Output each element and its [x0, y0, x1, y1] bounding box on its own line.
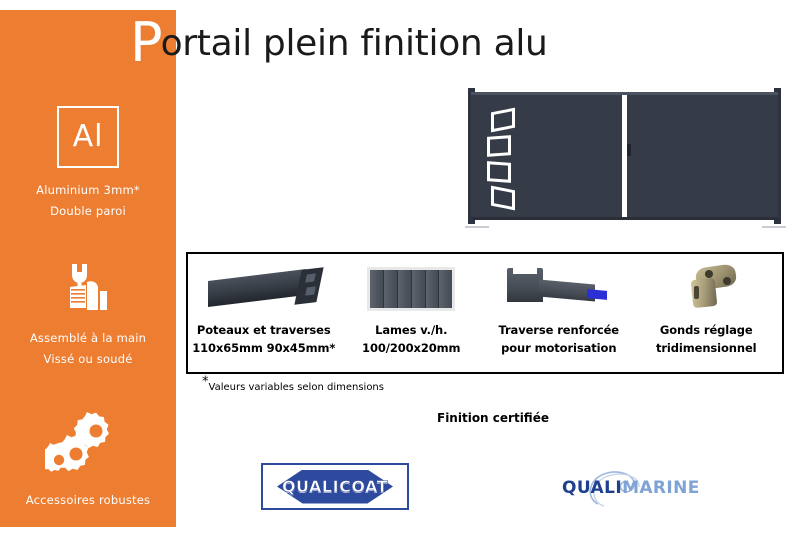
qualimarine-text-part1: QUALI: [562, 478, 622, 498]
aluminium-symbol-label: Al: [73, 122, 104, 152]
gate-cutout-4: [491, 186, 515, 211]
sidebar-block-assembly: Assemblé à la main Vissé ou soudé: [0, 256, 176, 371]
feature-sub-hinge: tridimensionnel: [656, 340, 757, 358]
gate-bottom-rail: [471, 217, 778, 220]
sidebar-caption-aluminium: Aluminium 3mm* Double paroi: [0, 180, 176, 223]
gate-cutout-3: [487, 161, 511, 183]
gate-leaf-right: [627, 92, 778, 220]
sidebar-caption-assembly-line1: Assemblé à la main: [0, 328, 176, 349]
feature-label-hinge: Gonds réglage: [660, 322, 753, 340]
qualimarine-logo: QUALIMARINE: [556, 466, 716, 510]
qualimarine-text-part2: MARINE: [622, 478, 700, 498]
feature-item-posts: Poteaux et traverses 110x65mm 90x45mm*: [190, 260, 338, 372]
feature-sub-motorised-crossbar: pour motorisation: [501, 340, 616, 358]
gate-center-gap: [622, 92, 627, 220]
feature-sub-slats: 100/200x20mm: [362, 340, 460, 358]
gate-ground-left: [465, 226, 489, 228]
qualicoat-logo: QUALICOAT: [261, 463, 409, 510]
features-panel: Poteaux et traverses 110x65mm 90x45mm* L…: [186, 252, 784, 374]
feature-item-hinge: Gonds réglage tridimensionnel: [633, 260, 781, 372]
gate-cutout-1: [491, 108, 515, 133]
gate-top-rail: [471, 92, 778, 95]
sidebar-caption-accessories-line1: Accessoires robustes: [0, 490, 176, 511]
gate-handle: [627, 144, 631, 156]
hinge-icon: [633, 260, 781, 318]
feature-item-slats: Lames v./h. 100/200x20mm: [338, 260, 486, 372]
profile-bar-icon: [190, 260, 338, 318]
footnote: *Valeurs variables selon dimensions: [202, 382, 384, 393]
feature-label-slats: Lames v./h.: [375, 322, 447, 340]
gate-leaf-left: [471, 92, 622, 220]
sidebar-caption-aluminium-line2: Double paroi: [0, 201, 176, 222]
certification-title: Finition certifiée: [437, 411, 549, 425]
feature-label-posts: Poteaux et traverses: [197, 322, 331, 340]
page-title: Portail plein finition alu: [130, 26, 548, 62]
sidebar-caption-assembly: Assemblé à la main Vissé ou soudé: [0, 328, 176, 371]
footnote-text: Valeurs variables selon dimensions: [209, 382, 384, 393]
feature-sub-posts: 110x65mm 90x45mm*: [192, 340, 335, 358]
qualicoat-logo-text: QUALICOAT: [282, 477, 388, 496]
gears-icon: [0, 410, 176, 476]
slats-panel-icon: [338, 260, 486, 318]
qualimarine-logo-text: QUALIMARINE: [562, 478, 700, 498]
feature-label-motorised-crossbar: Traverse renforcée: [499, 322, 619, 340]
left-feature-sidebar: Al Aluminium 3mm* Double paroi Assemblé …: [0, 10, 176, 527]
sidebar-block-aluminium: Al Aluminium 3mm* Double paroi: [0, 106, 176, 223]
sidebar-caption-accessories: Accessoires robustes: [0, 490, 176, 511]
page-title-rest: ortail plein finition alu: [161, 23, 548, 64]
sidebar-caption-assembly-line2: Vissé ou soudé: [0, 349, 176, 370]
aluminium-square-icon: Al: [57, 106, 119, 168]
gate-cutout-2: [487, 135, 511, 157]
motorised-crossbar-icon: [485, 260, 633, 318]
sidebar-caption-aluminium-line1: Aluminium 3mm*: [0, 180, 176, 201]
hand-wrench-icon: [0, 256, 176, 318]
page-title-initial: P: [130, 11, 161, 74]
feature-item-motorised-crossbar: Traverse renforcée pour motorisation: [485, 260, 633, 372]
gate-ground-right: [762, 226, 786, 228]
gate-illustration: [471, 92, 778, 220]
sidebar-block-accessories: Accessoires robustes: [0, 410, 176, 511]
